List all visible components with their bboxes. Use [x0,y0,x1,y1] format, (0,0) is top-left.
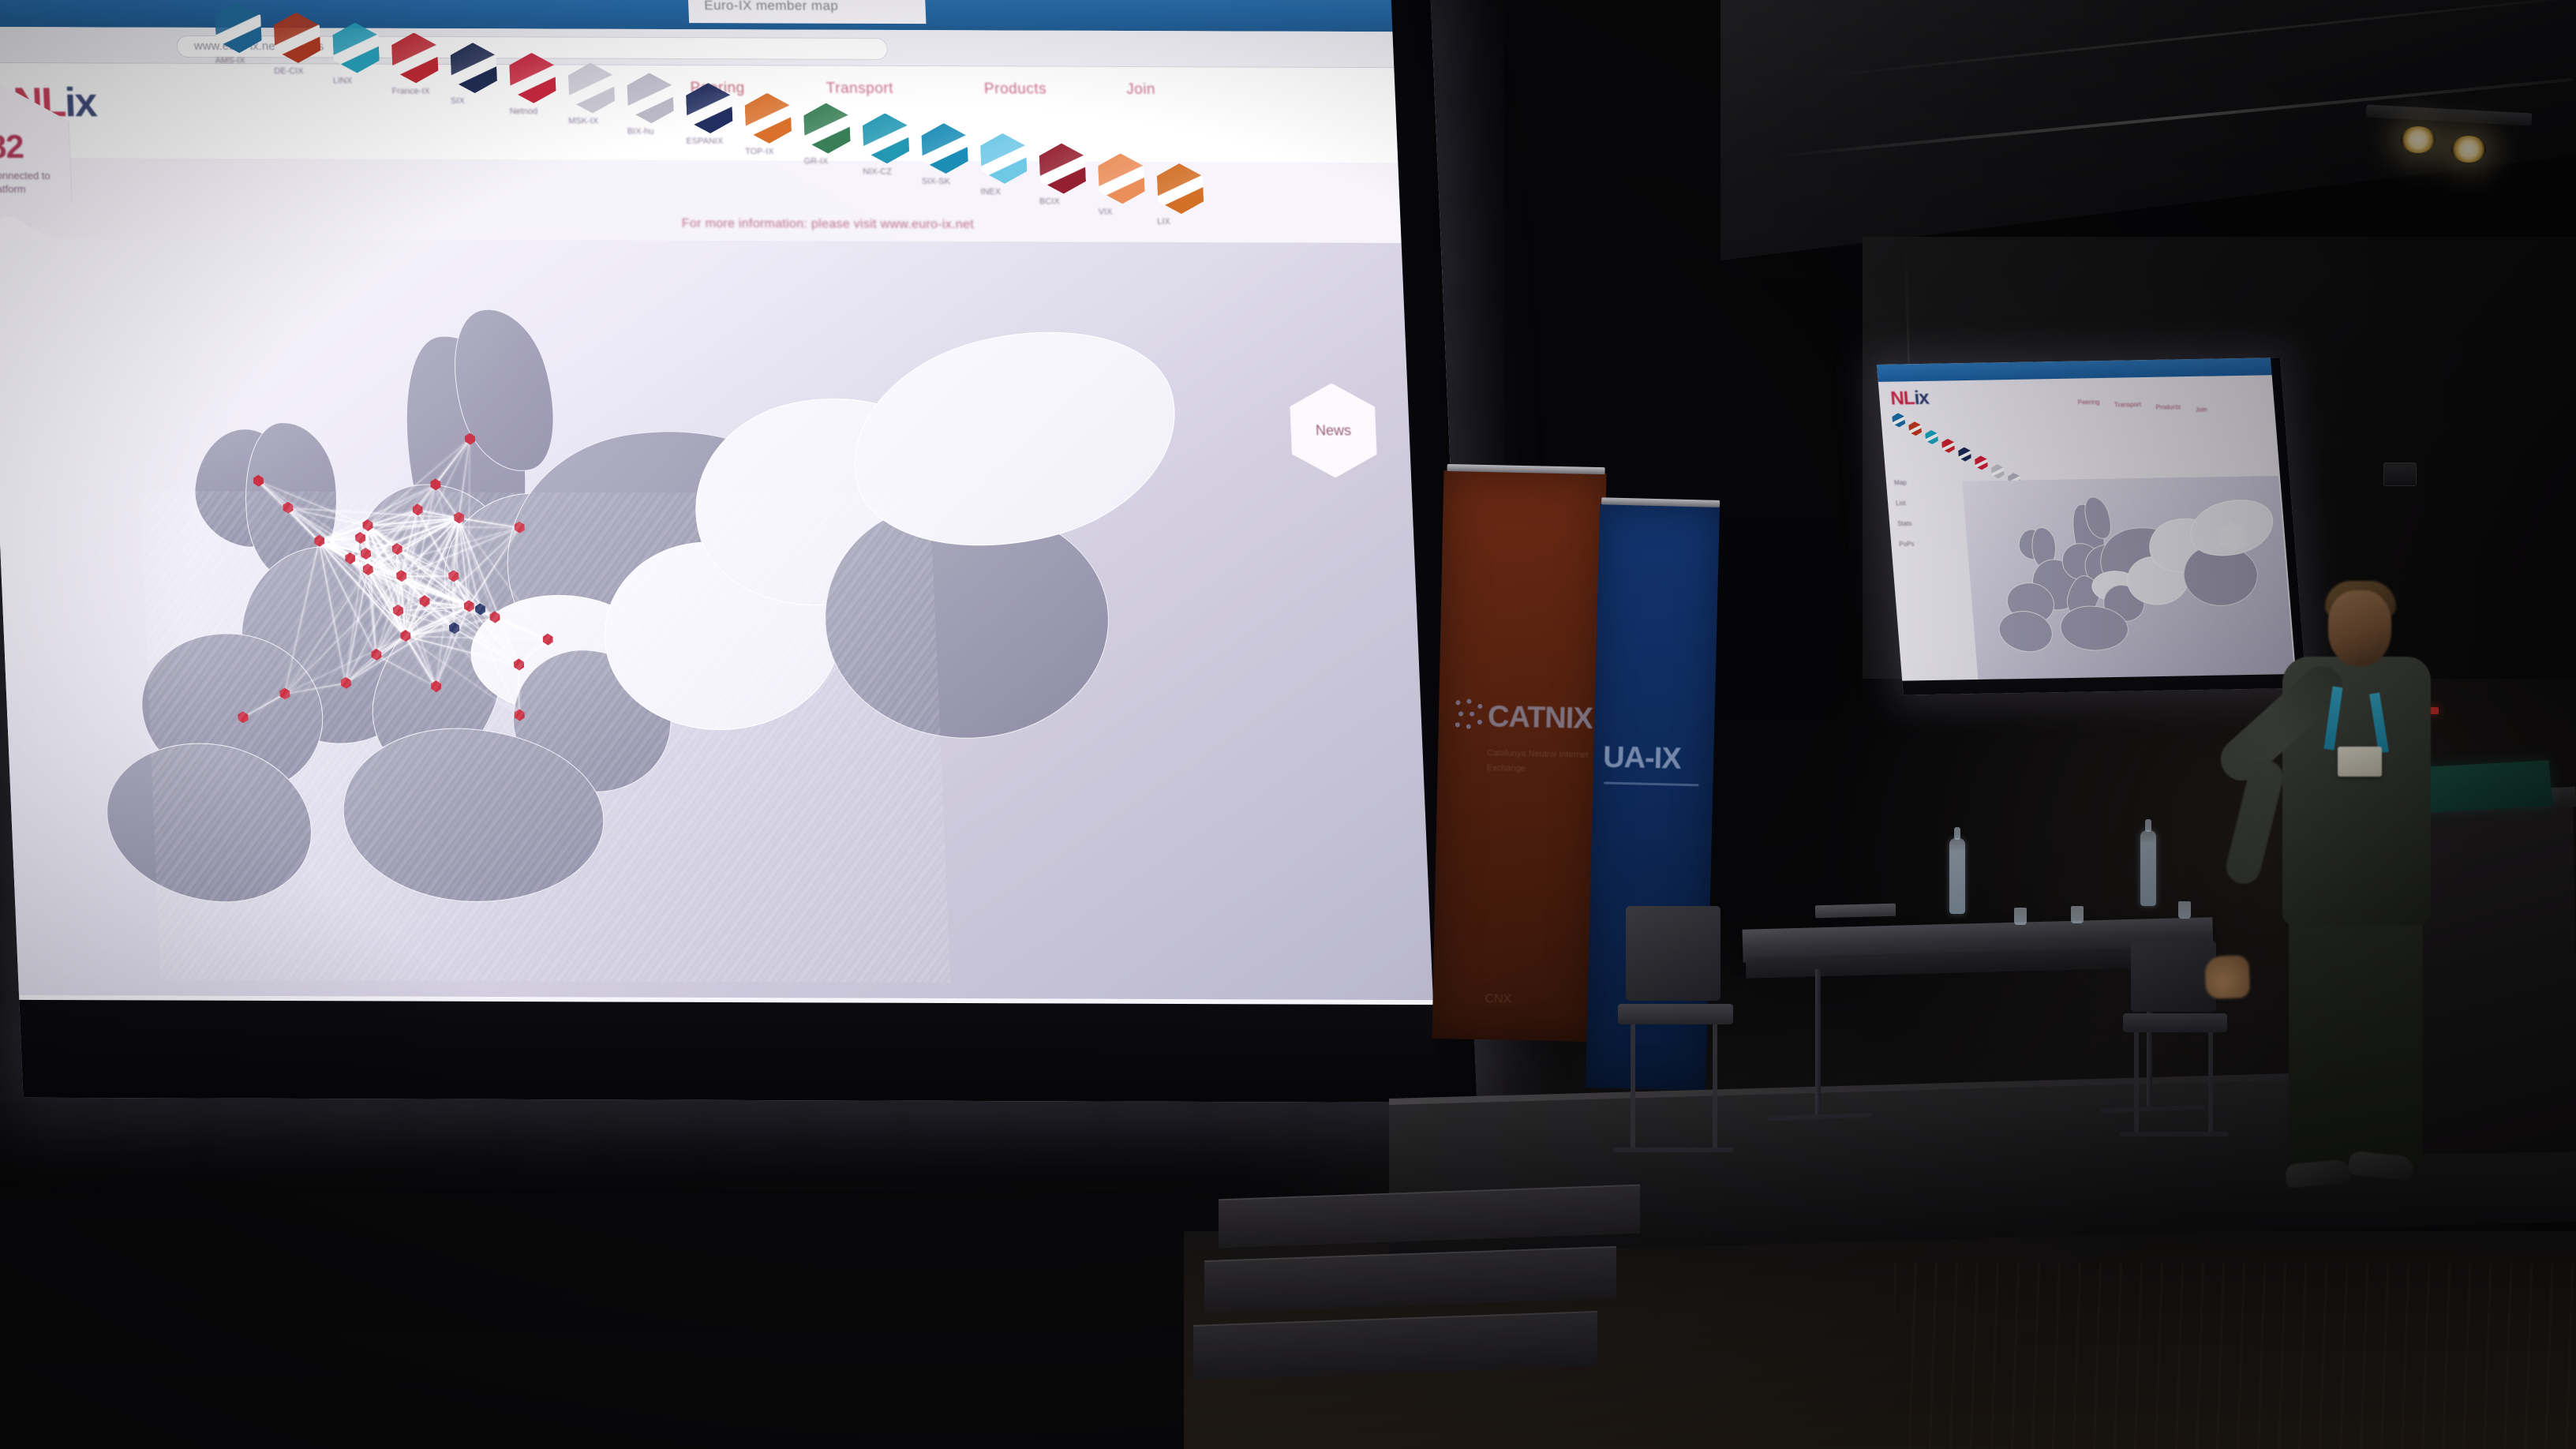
exchange-logo-label: DE-CIX [274,66,304,76]
drinking-glass [2071,906,2084,923]
exchange-logo-label: SIX [451,96,465,106]
info-line: For more information: please visit www.e… [681,217,974,232]
drinking-glass [2178,901,2191,919]
exchange-logo-label: INEX [980,187,1001,197]
monitor-tab-peering[interactable]: Peering [2077,399,2099,406]
laptop[interactable] [1815,904,1896,919]
table-leg [1815,969,1821,1119]
stat-label: Members connected to the platform [0,170,54,196]
exchange-logo-label: NIX-CZ [863,167,892,176]
monitor-tab-products[interactable]: Products [2155,403,2181,411]
drinking-glass [2014,908,2027,925]
chair-back [2131,941,2216,1012]
monitor-tab-join[interactable]: Join [2196,406,2207,414]
presenter-head [2328,590,2391,666]
exchange-logo-label: ESPANIX [686,137,723,146]
exchange-logo-label: AMS-IX [215,56,245,66]
exchange-logo-label: LIX [1157,217,1170,227]
nav-item-join[interactable]: Join [1126,81,1156,99]
stage-step [1204,1246,1616,1312]
water-bottle [1949,838,1965,914]
stage-step [1193,1311,1597,1380]
nav-item-products[interactable]: Products [984,80,1047,98]
monitor-sidebar-pops[interactable]: PoPs [1899,541,1915,548]
catnix-footer: CNX [1485,992,1511,1007]
exchange-logo-label: MSK-IX [568,116,598,125]
monitor-tab-transport[interactable]: Transport [2114,401,2142,409]
europe-network-map[interactable] [0,238,1473,1001]
ceiling-spotlight-icon [2401,126,2436,153]
chair-leg [2134,1032,2139,1135]
water-bottle [2140,830,2156,906]
ceiling [1720,0,2576,260]
chair-seat [1618,1004,1733,1024]
monitor-sidebar-map[interactable]: Map [1894,479,1907,486]
chair-leg [1713,1024,1717,1151]
stage-steps [1193,1192,1640,1421]
banner-uaix: UA-IX [1586,504,1720,1090]
monitor-sidebar-stats[interactable]: Stats [1897,520,1912,527]
wall-fixture [2383,462,2417,486]
site-logo-secondary: ix [64,80,97,125]
banner-pole [1447,464,1605,474]
floor-planks [1894,1263,2576,1449]
exchange-logo-label: TOP-IX [745,147,774,156]
uaix-wordmark: UA-IX [1603,740,1681,776]
exchange-logo-label: France-IX [391,86,430,95]
monitor-exchange-logo-de-cix-icon[interactable] [1908,421,1922,436]
presenter-badge [2338,747,2382,777]
nav-item-transport[interactable]: Transport [826,80,893,98]
monitor-sidebar-list[interactable]: List [1896,500,1906,507]
exchange-logo-label: Netnod [509,107,537,116]
exchange-logo-label: GR-IX [803,156,828,166]
monitor-exchange-logo-linx-icon[interactable] [1925,430,1938,444]
monitor-logo-secondary: ix [1913,388,1929,409]
monitor-exchange-logo-france-ix-icon[interactable] [1941,439,1955,453]
presenter-shoe [2285,1159,2351,1188]
chair-foot [1613,1148,1733,1152]
monitor-exchange-logo-msk-ix-icon[interactable] [1991,464,2005,478]
monitor-logo-primary: NL [1889,388,1915,409]
chair-back [1626,906,1720,1001]
presenter-forearm [2222,757,2286,888]
monitor-exchange-logo-ams-ix-icon[interactable] [1892,413,1905,427]
projected-browser-window[interactable]: Euro-IX member map www.euro-ix.net/m/map… [0,0,1477,1103]
presenter [2210,568,2541,1247]
stage-step [1219,1185,1640,1249]
presenter-legs [2289,908,2423,1168]
catnix-wordmark: CATNIX [1488,700,1593,736]
exchange-logo-label: BIX-hu [627,126,654,136]
projection-screen: Euro-IX member map www.euro-ix.net/m/map… [0,0,1477,1103]
peering-link [401,575,453,577]
stat-value: 482 [0,128,24,166]
banner-catnix: CATNIX Catalunya Neutral Internet Exchan… [1432,470,1606,1042]
exchange-logo-lix-icon[interactable] [1156,163,1204,214]
uaix-underline [1604,781,1698,786]
monitor-site-logo[interactable]: NLix [1889,388,1929,410]
presenter-hand [2204,955,2250,999]
ceiling-spotlight-icon [2451,136,2486,163]
auditorium-scene: Euro-IX member map www.euro-ix.net/m/map… [0,0,2576,1449]
catnix-dot-logo-icon [1453,698,1487,732]
exchange-logo-label: LINX [333,76,353,85]
banner-pole [1601,497,1720,507]
catnix-subtitle: Catalunya Neutral Internet Exchange [1486,746,1589,777]
exchange-logo-label: BCIX [1039,197,1060,206]
monitor-exchange-logo-six-icon[interactable] [1958,447,1971,462]
chair-leg [1631,1024,1635,1151]
exchange-logo-label: VIX [1098,207,1112,216]
screen-frame-bottom [0,1000,1477,1103]
browser-tab-title: Euro-IX member map [704,0,918,14]
monitor-exchange-logo-netnod-icon[interactable] [1975,455,1988,470]
exchange-logo-label: SIX-SK [922,177,951,186]
